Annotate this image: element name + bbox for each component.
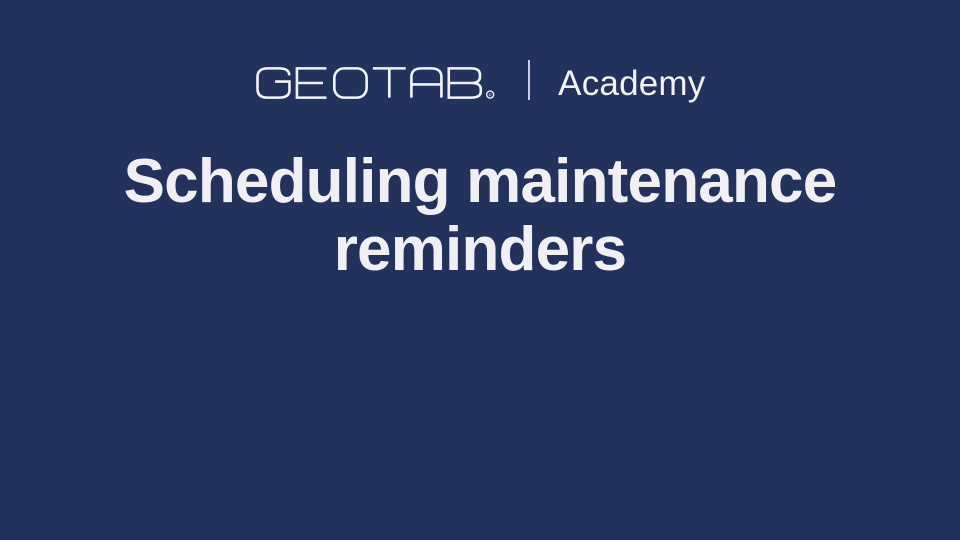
brand-divider (528, 60, 530, 100)
title-slide: R Academy Scheduling maintenance reminde… (0, 0, 960, 540)
svg-text:R: R (488, 92, 492, 97)
sub-brand-label: Academy (558, 66, 705, 101)
brand-lockup: R Academy (0, 44, 960, 100)
geotab-wordmark-logo: R (255, 66, 499, 100)
slide-title-line-2: reminders (60, 216, 900, 284)
slide-title-line-1: Scheduling maintenance (60, 148, 900, 216)
slide-title: Scheduling maintenance reminders (0, 148, 960, 284)
